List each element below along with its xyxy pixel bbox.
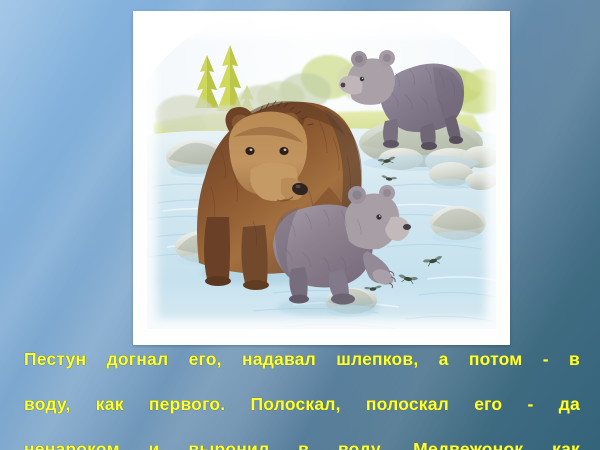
rock-right-lower — [430, 206, 486, 243]
caption-line: воду, как первого. Полоскал, полоскал ег… — [24, 393, 580, 438]
bears-in-river-illustration — [133, 11, 510, 345]
caption-line: ненароком и выронил в воду. Медвежонок к… — [24, 438, 580, 450]
slide-caption: Пестун догнал его, надавал шлепков, а по… — [24, 348, 580, 450]
caption-line: Пестун догнал его, надавал шлепков, а по… — [24, 348, 580, 393]
presentation-slide: Пестун догнал его, надавал шлепков, а по… — [0, 0, 600, 450]
illustration-frame — [133, 11, 510, 345]
